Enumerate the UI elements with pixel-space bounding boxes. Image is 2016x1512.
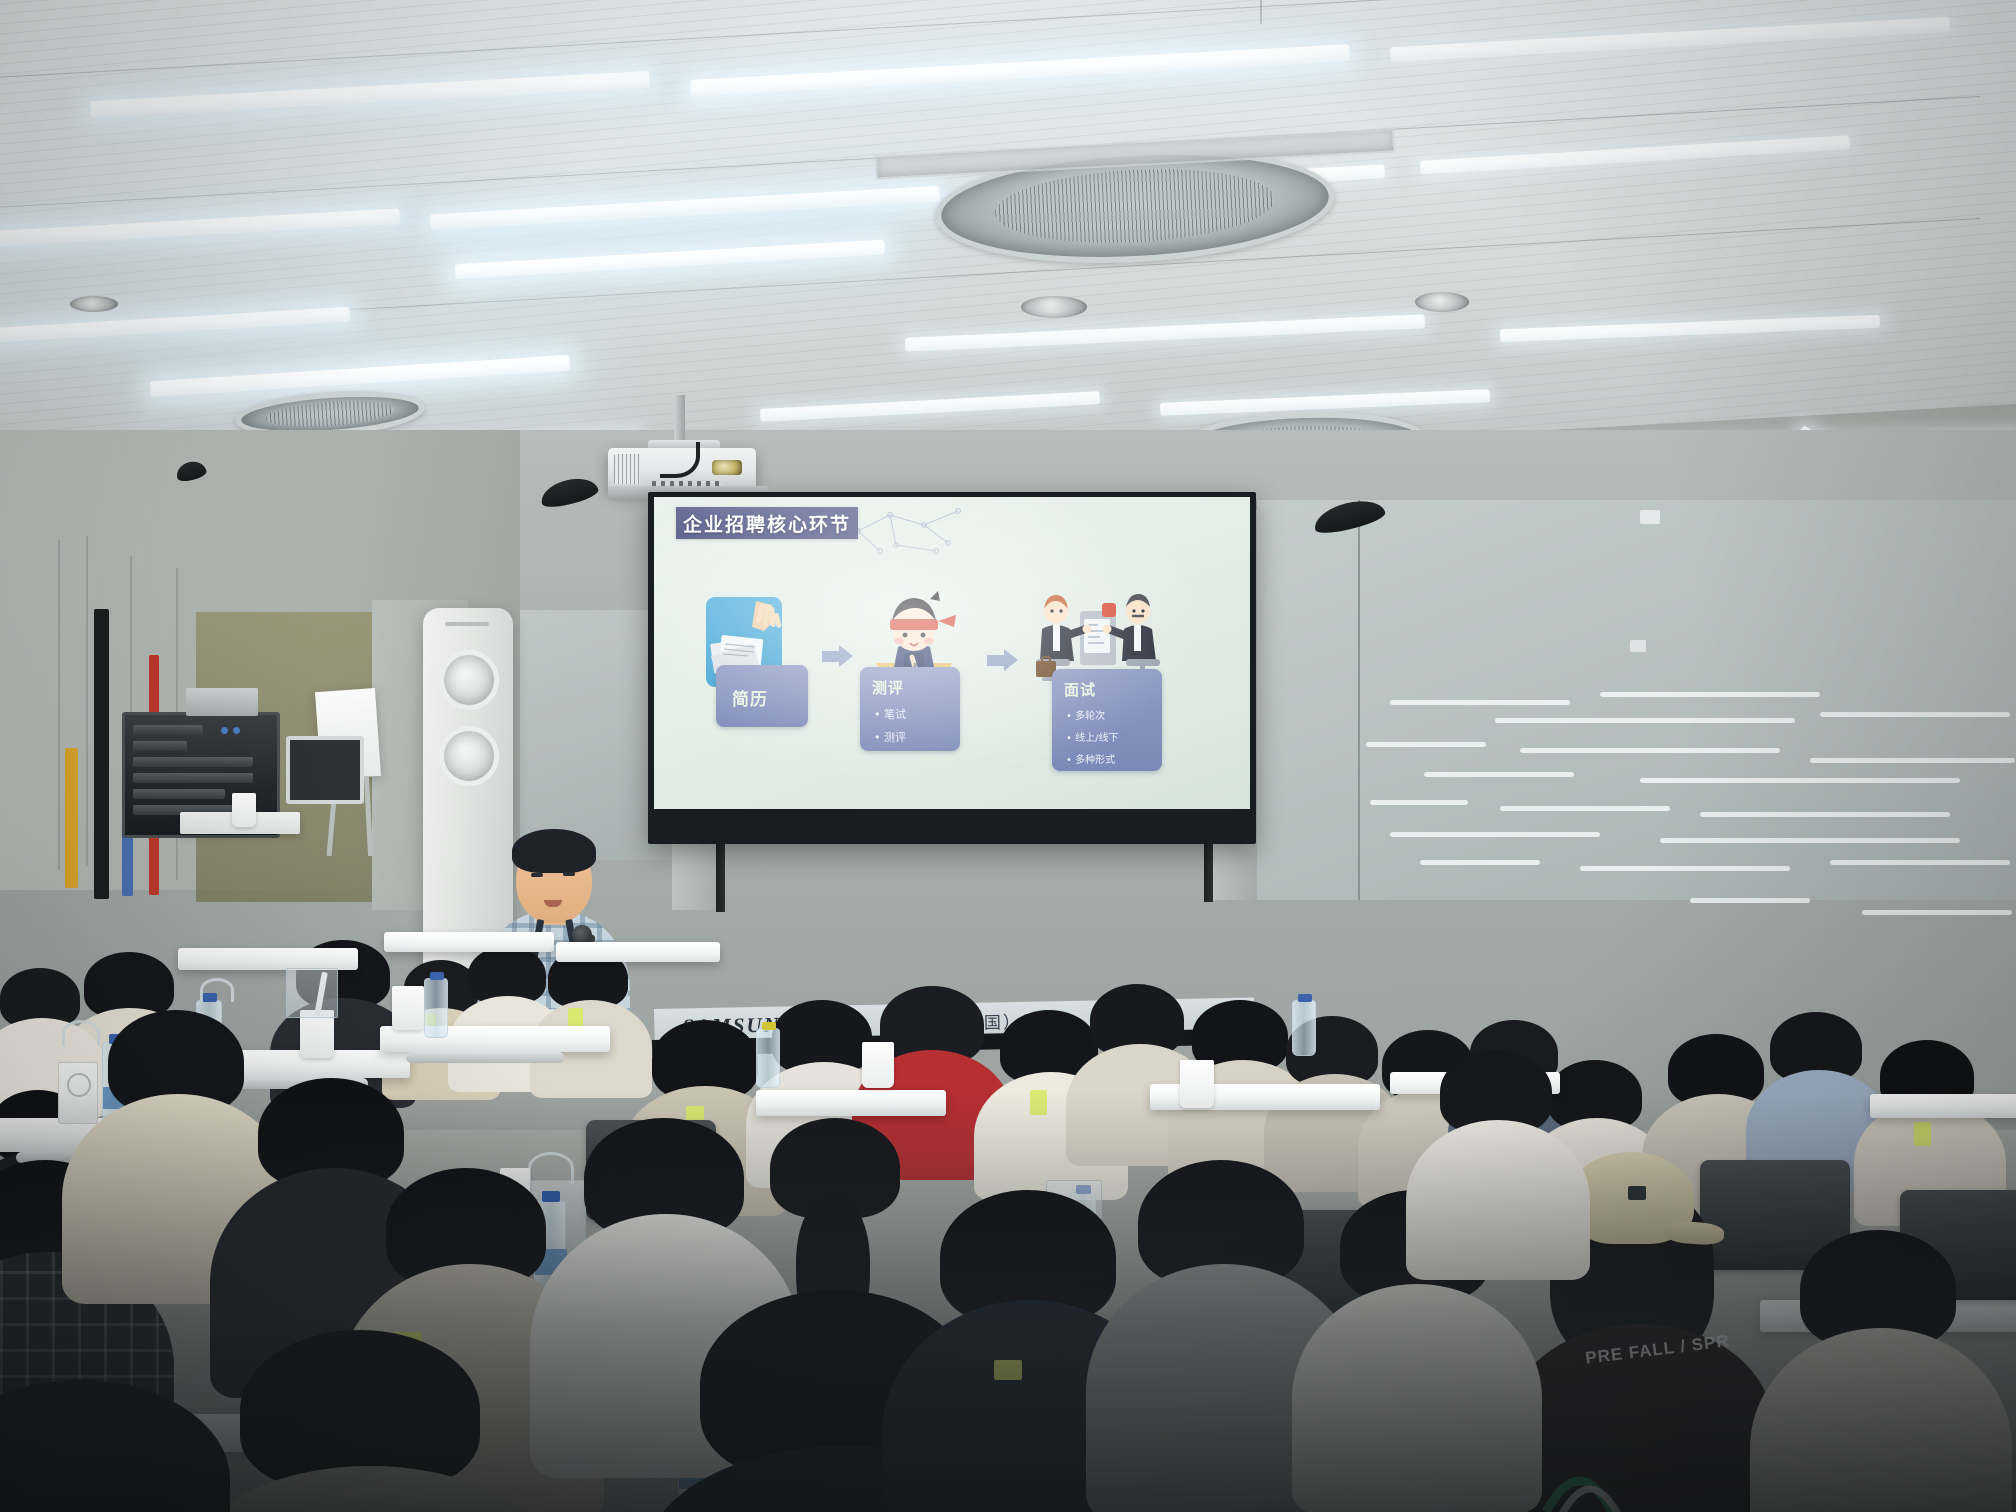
network-decoration-icon [850,501,980,561]
arrow-right-icon [987,649,1019,671]
stage-2-label: 测评 [872,677,960,698]
stage-3-bullet: 多种形式 [1066,751,1162,766]
stage-3-bullet: 多轮次 [1066,707,1162,722]
projector-vent [614,454,640,484]
stage-3-bullets: 多轮次 线上/线下 多种形式 [1066,707,1162,766]
stage-3-bullet: 线上/线下 [1066,729,1162,744]
water-bottle [1292,1000,1316,1056]
presenter-eye [563,872,575,876]
stage-box-3: 面试 多轮次 线上/线下 多种形式 [1052,669,1162,771]
stage-2: 测评 笔试 测评 [860,589,980,761]
ac-tower-brand [445,622,489,626]
rack-led [233,727,240,734]
stage-2-bullets: 笔试 测评 [874,706,960,745]
tote-bag-handle [200,978,234,1002]
bottle-cap [762,1022,776,1030]
ceiling-sensor-box [1640,510,1660,524]
stage-3: 面试 多轮次 线上/线下 多种形式 [1026,585,1186,771]
glass-partition-seam [1358,500,1360,900]
paper-cup [232,793,256,827]
bottle-cap [430,972,444,980]
presenter-hair [512,829,596,873]
bottle-cap [1298,994,1312,1002]
wall-stripe-yellow [65,748,78,888]
paper-cup [392,986,424,1030]
ceiling-spotlight [70,296,118,312]
floor-shadow [0,1092,2016,1512]
stage-3-label: 面试 [1064,679,1162,700]
ac-tower-fan [439,650,499,710]
desk-rail [406,1052,564,1063]
slide-title-bar: 企业招聘核心环节 [676,507,858,539]
desk [384,932,554,952]
slide: 企业招聘核心环节 [654,497,1250,809]
presenter-eye [531,873,543,877]
stage-1: 简历 [706,597,814,757]
ceiling-spotlight [1415,292,1469,312]
arrow-right-icon [822,645,854,667]
desk [178,948,358,970]
projection-screen: 企业招聘核心环节 [654,497,1250,809]
rack-led [221,727,228,734]
stage-2-bullet: 笔试 [874,706,960,722]
stage-box-2: 测评 笔试 测评 [860,667,960,751]
ceiling-sensor-box [1630,640,1646,652]
paper-cup [862,1042,894,1088]
stage-1-label: 简历 [732,685,808,710]
tote-bag [286,968,338,1018]
stage-2-bullet: 测评 [874,729,960,745]
slide-title: 企业招聘核心环节 [683,510,851,537]
water-bottle [424,978,448,1038]
monitor [286,736,364,804]
ceiling-spotlight [1021,296,1087,318]
desk [556,942,720,962]
water-bottle [756,1028,780,1088]
ac-tower-fan [439,726,499,786]
stage-box-1: 简历 [716,665,808,727]
seminar-photo-scene: 企业招聘核心环节 [0,0,2016,1512]
tote-bag-handle [62,1020,100,1046]
wall-stripe-black [94,609,109,899]
rack-shelf [186,688,258,716]
projector-lens [712,460,742,475]
